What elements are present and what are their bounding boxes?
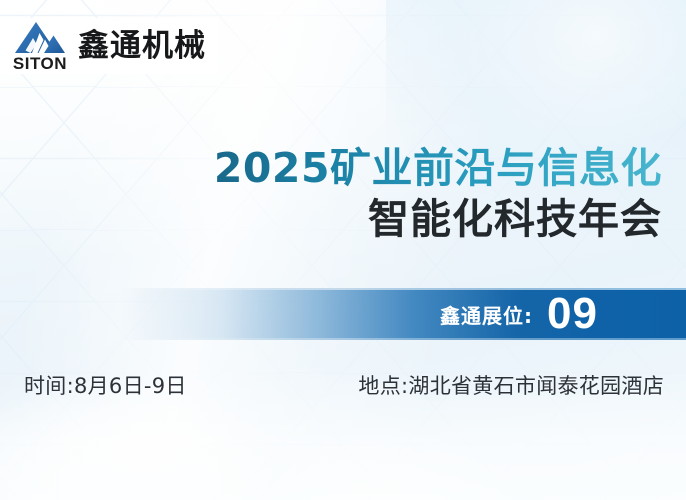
headline-line-1: 2025矿业前沿与信息化	[0, 143, 662, 193]
logo-latin-name: SITON	[13, 55, 67, 72]
mountain-peaks-logo-icon	[12, 20, 68, 54]
brand-logo: SITON 鑫通机械	[0, 18, 218, 74]
booth-number: 09	[547, 292, 598, 336]
booth-label: 鑫通展位:	[440, 300, 533, 329]
headline-block: 2025矿业前沿与信息化 智能化科技年会	[0, 143, 662, 245]
event-meta-row: 时间:8月6日-9日 地点:湖北省黄石市闻泰花园酒店	[24, 370, 664, 400]
event-venue: 地点:湖北省黄石市闻泰花园酒店	[358, 370, 664, 400]
booth-number-band: 鑫通展位: 09	[120, 288, 686, 340]
headline-line-2: 智能化科技年会	[0, 193, 662, 245]
booth-inner: 鑫通展位: 09	[440, 288, 598, 340]
logo-mark: SITON	[10, 20, 70, 72]
conference-promo-poster: SITON 鑫通机械 2025矿业前沿与信息化 智能化科技年会 鑫通展位: 09…	[0, 0, 686, 500]
event-date: 时间:8月6日-9日	[24, 370, 187, 400]
logo-chinese-name: 鑫通机械	[78, 31, 206, 62]
